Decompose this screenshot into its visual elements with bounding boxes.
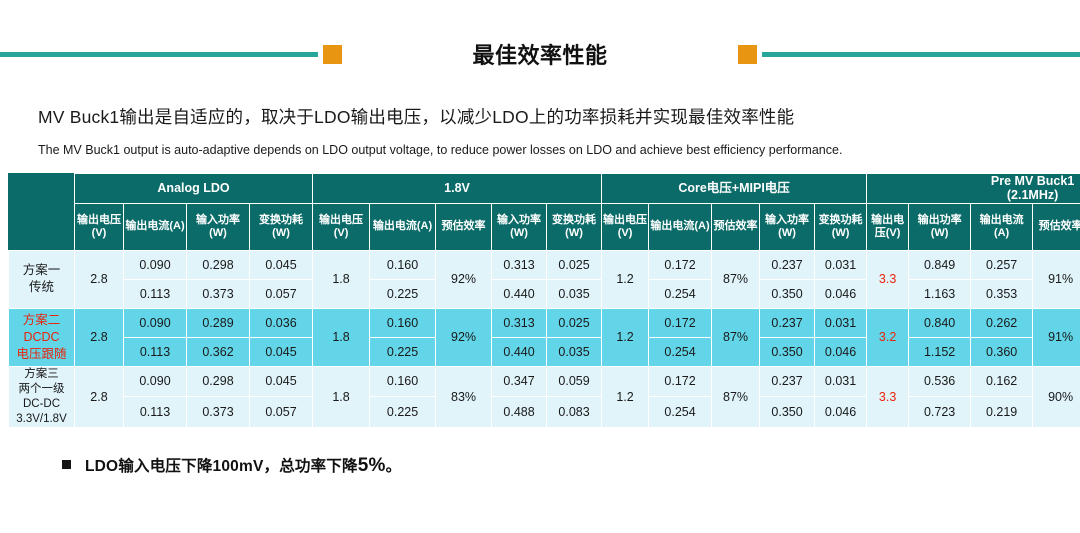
group-header-pre-mv-buck1-line1: Pre MV Buck1 [867, 174, 1080, 188]
cell-r2b-buck-pout: 1.152 [909, 337, 971, 366]
cell-r2-buck-eff: 91% [1033, 308, 1080, 366]
group-header-1v8: 1.8V [313, 174, 602, 204]
table-row-highlight: 0.113 0.362 0.045 0.225 0.440 0.035 0.25… [9, 337, 1080, 366]
cell-r2a-1v8-ploss: 0.025 [547, 308, 602, 337]
footer-bullet-text: LDO输入电压下降100mV，总功率下降5%。 [85, 454, 401, 477]
cell-r3b-buck-iout: 0.219 [971, 397, 1033, 427]
cell-r3-core-vout: 1.2 [602, 366, 649, 427]
col-header-buck-eff: 预估效率 [1033, 203, 1080, 250]
cell-r1b-1v8-pin: 0.440 [492, 279, 547, 308]
cell-r2b-ldo-ploss: 0.045 [250, 337, 313, 366]
cell-r2b-core-pin: 0.350 [760, 337, 815, 366]
cell-r2b-1v8-iout: 0.225 [370, 337, 436, 366]
scheme-2-line1: 方案二 [9, 312, 74, 329]
scheme-3-line4: 3.3V/1.8V [9, 412, 74, 427]
cell-r2a-buck-iout: 0.262 [971, 308, 1033, 337]
cell-r1-buck-vout: 3.3 [867, 250, 909, 308]
cell-r1a-ldo-iout: 0.090 [124, 250, 187, 279]
table-head: Analog LDO 1.8V Core电压+MIPI电压 Pre MV Buc… [9, 174, 1080, 251]
cell-r3a-buck-pout: 0.536 [909, 366, 971, 396]
scheme-3-line2: 两个一级 [9, 382, 74, 397]
lead-paragraph-en: The MV Buck1 output is auto-adaptive dep… [38, 143, 1080, 157]
corner-cell [9, 174, 75, 251]
cell-r3-buck-vout: 3.3 [867, 366, 909, 427]
group-header-core-mipi: Core电压+MIPI电压 [602, 174, 867, 204]
cell-r1b-buck-iout: 0.353 [971, 279, 1033, 308]
col-header-core-pin: 输入功率(W) [760, 203, 815, 250]
group-header-pre-mv-buck1: Pre MV Buck1 (2.1MHz) [867, 174, 1080, 204]
cell-r1-buck-eff: 91% [1033, 250, 1080, 308]
cell-r3a-ldo-pin: 0.298 [187, 366, 250, 396]
cell-r3a-1v8-iout: 0.160 [370, 366, 436, 396]
cell-r1a-ldo-pin: 0.298 [187, 250, 250, 279]
cell-r1b-core-iout: 0.254 [649, 279, 712, 308]
cell-r2b-ldo-iout: 0.113 [124, 337, 187, 366]
cell-r1a-core-ploss: 0.031 [815, 250, 867, 279]
cell-r1-1v8-eff: 92% [436, 250, 492, 308]
cell-r3-buck-eff: 90% [1033, 366, 1080, 427]
col-header-ldo-vout: 输出电压(V) [75, 203, 124, 250]
cell-r2a-ldo-pin: 0.289 [187, 308, 250, 337]
col-header-buck-iout: 输出电流(A) [971, 203, 1033, 250]
col-header-core-ploss: 变换功耗(W) [815, 203, 867, 250]
cell-r1b-core-ploss: 0.046 [815, 279, 867, 308]
scheme-3-line3: DC-DC [9, 397, 74, 412]
cell-r3b-ldo-pin: 0.373 [187, 397, 250, 427]
scheme-2-line2: DCDC [9, 329, 74, 346]
col-header-1v8-iout: 输出电流(A) [370, 203, 436, 250]
cell-r2-core-eff: 87% [712, 308, 760, 366]
slide-header: 最佳效率性能 [0, 0, 1080, 92]
cell-r2b-core-ploss: 0.046 [815, 337, 867, 366]
cell-r3a-1v8-ploss: 0.059 [547, 366, 602, 396]
cell-r1b-ldo-ploss: 0.057 [250, 279, 313, 308]
cell-r3b-core-iout: 0.254 [649, 397, 712, 427]
cell-r1a-1v8-ploss: 0.025 [547, 250, 602, 279]
cell-r1b-ldo-iout: 0.113 [124, 279, 187, 308]
cell-r3-1v8-eff: 83% [436, 366, 492, 427]
cell-r3b-ldo-iout: 0.113 [124, 397, 187, 427]
cell-r3a-ldo-ploss: 0.045 [250, 366, 313, 396]
footer-bullet-text-emphasis: 5% [358, 455, 386, 476]
col-header-core-vout: 输出电压(V) [602, 203, 649, 250]
table-row: 0.113 0.373 0.057 0.225 0.488 0.083 0.25… [9, 397, 1080, 427]
group-header-pre-mv-buck1-line2: (2.1MHz) [867, 188, 1080, 202]
cell-r2b-1v8-pin: 0.440 [492, 337, 547, 366]
cell-r3b-1v8-pin: 0.488 [492, 397, 547, 427]
cell-r3a-buck-iout: 0.162 [971, 366, 1033, 396]
row-scheme-label-1: 方案一 传统 [9, 250, 75, 308]
row-scheme-label-3: 方案三 两个一级 DC-DC 3.3V/1.8V [9, 366, 75, 427]
table-row-highlight: 方案二 DCDC 电压跟随 2.8 0.090 0.289 0.036 1.8 … [9, 308, 1080, 337]
col-header-ldo-iout: 输出电流(A) [124, 203, 187, 250]
cell-r2-1v8-vout: 1.8 [313, 308, 370, 366]
cell-r3b-1v8-ploss: 0.083 [547, 397, 602, 427]
cell-r2b-ldo-pin: 0.362 [187, 337, 250, 366]
cell-r2b-core-iout: 0.254 [649, 337, 712, 366]
cell-r2-core-vout: 1.2 [602, 308, 649, 366]
cell-r1b-1v8-ploss: 0.035 [547, 279, 602, 308]
col-header-1v8-ploss: 变换功耗(W) [547, 203, 602, 250]
scheme-1-line2: 传统 [9, 279, 74, 296]
cell-r1a-1v8-pin: 0.313 [492, 250, 547, 279]
table-row: 方案三 两个一级 DC-DC 3.3V/1.8V 2.8 0.090 0.298… [9, 366, 1080, 396]
cell-r3b-buck-pout: 0.723 [909, 397, 971, 427]
cell-r3a-core-ploss: 0.031 [815, 366, 867, 396]
col-header-buck-vout: 输出电压(V) [867, 203, 909, 250]
cell-r1-ldo-vout: 2.8 [75, 250, 124, 308]
cell-r3b-ldo-ploss: 0.057 [250, 397, 313, 427]
col-header-1v8-eff: 预估效率 [436, 203, 492, 250]
group-header-analog-ldo: Analog LDO [75, 174, 313, 204]
cell-r2a-1v8-iout: 0.160 [370, 308, 436, 337]
scheme-2-line3: 电压跟随 [9, 346, 74, 363]
cell-r1a-core-pin: 0.237 [760, 250, 815, 279]
col-header-1v8-vout: 输出电压(V) [313, 203, 370, 250]
cell-r1-core-eff: 87% [712, 250, 760, 308]
row-scheme-label-2: 方案二 DCDC 电压跟随 [9, 308, 75, 366]
cell-r3a-core-pin: 0.237 [760, 366, 815, 396]
efficiency-table: Analog LDO 1.8V Core电压+MIPI电压 Pre MV Buc… [8, 173, 1080, 428]
cell-r2-1v8-eff: 92% [436, 308, 492, 366]
table-sub-header-row: 输出电压(V) 输出电流(A) 输入功率(W) 变换功耗(W) 输出电压(V) … [9, 203, 1080, 250]
cell-r1a-ldo-ploss: 0.045 [250, 250, 313, 279]
col-header-1v8-pin: 输入功率(W) [492, 203, 547, 250]
lead-paragraph-cn: MV Buck1输出是自适应的，取决于LDO输出电压，以减少LDO上的功率损耗并… [38, 104, 1080, 129]
cell-r1a-core-iout: 0.172 [649, 250, 712, 279]
col-header-core-eff: 预估效率 [712, 203, 760, 250]
cell-r2b-1v8-ploss: 0.035 [547, 337, 602, 366]
cell-r3b-1v8-iout: 0.225 [370, 397, 436, 427]
cell-r2a-buck-pout: 0.840 [909, 308, 971, 337]
cell-r1-1v8-vout: 1.8 [313, 250, 370, 308]
cell-r2a-core-pin: 0.237 [760, 308, 815, 337]
cell-r1a-buck-pout: 0.849 [909, 250, 971, 279]
cell-r1a-1v8-iout: 0.160 [370, 250, 436, 279]
table-row: 方案一 传统 2.8 0.090 0.298 0.045 1.8 0.160 9… [9, 250, 1080, 279]
cell-r3-core-eff: 87% [712, 366, 760, 427]
cell-r2a-core-iout: 0.172 [649, 308, 712, 337]
cell-r3-1v8-vout: 1.8 [313, 366, 370, 427]
cell-r2a-core-ploss: 0.031 [815, 308, 867, 337]
cell-r2a-ldo-ploss: 0.036 [250, 308, 313, 337]
cell-r1b-core-pin: 0.350 [760, 279, 815, 308]
cell-r3a-core-iout: 0.172 [649, 366, 712, 396]
cell-r2a-ldo-iout: 0.090 [124, 308, 187, 337]
cell-r3-ldo-vout: 2.8 [75, 366, 124, 427]
footer-bullet-text-part2: 。 [386, 458, 402, 475]
bullet-square-icon [62, 460, 71, 469]
table-group-header-row: Analog LDO 1.8V Core电压+MIPI电压 Pre MV Buc… [9, 174, 1080, 204]
cell-r2-ldo-vout: 2.8 [75, 308, 124, 366]
efficiency-table-wrapper: Analog LDO 1.8V Core电压+MIPI电压 Pre MV Buc… [8, 173, 1072, 428]
cell-r1b-ldo-pin: 0.373 [187, 279, 250, 308]
cell-r1b-buck-pout: 1.163 [909, 279, 971, 308]
scheme-3-line1: 方案三 [9, 367, 74, 382]
footer-bullet: LDO输入电压下降100mV，总功率下降5%。 [62, 454, 1080, 477]
cell-r1-core-vout: 1.2 [602, 250, 649, 308]
cell-r2-buck-vout: 3.2 [867, 308, 909, 366]
cell-r1b-1v8-iout: 0.225 [370, 279, 436, 308]
table-body: 方案一 传统 2.8 0.090 0.298 0.045 1.8 0.160 9… [9, 250, 1080, 427]
footer-bullet-text-part1: LDO输入电压下降100mV，总功率下降 [85, 458, 358, 475]
cell-r3a-1v8-pin: 0.347 [492, 366, 547, 396]
cell-r2b-buck-iout: 0.360 [971, 337, 1033, 366]
col-header-ldo-pin: 输入功率(W) [187, 203, 250, 250]
col-header-ldo-ploss: 变换功耗(W) [250, 203, 313, 250]
col-header-core-iout: 输出电流(A) [649, 203, 712, 250]
cell-r3b-core-ploss: 0.046 [815, 397, 867, 427]
header-square-right [738, 45, 757, 64]
cell-r2a-1v8-pin: 0.313 [492, 308, 547, 337]
cell-r3b-core-pin: 0.350 [760, 397, 815, 427]
header-rule-right [762, 52, 1080, 57]
cell-r3a-ldo-iout: 0.090 [124, 366, 187, 396]
scheme-1-line1: 方案一 [9, 262, 74, 279]
col-header-buck-pout: 输出功率(W) [909, 203, 971, 250]
cell-r1a-buck-iout: 0.257 [971, 250, 1033, 279]
table-row: 0.113 0.373 0.057 0.225 0.440 0.035 0.25… [9, 279, 1080, 308]
